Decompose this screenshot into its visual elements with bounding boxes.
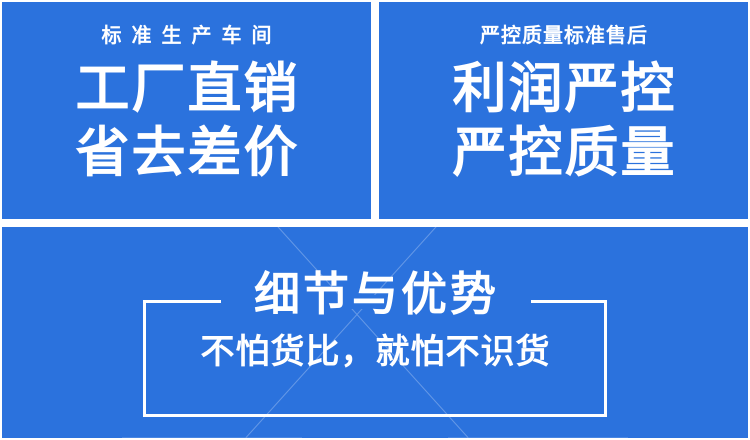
panel-quality-control-eyebrow: 严控质量标准售后 [479,26,648,46]
bottom-panel-subtitle: 不怕货比，就怕不识货 [2,335,748,369]
panel-quality-control: 严控质量标准售后 利润严控 严控质量 [379,2,748,219]
bottom-panel-title: 细节与优势 [2,271,748,317]
panel-factory-direct-eyebrow: 标准生产车间 [92,26,282,46]
top-panel-row: 标准生产车间 工厂直销 省去差价 严控质量标准售后 利润严控 严控质量 [2,2,748,219]
panel-factory-direct-headline-line2: 省去差价 [74,122,300,186]
panel-quality-control-headline-line2: 严控质量 [451,122,677,186]
panel-factory-direct-headline-line1: 工厂直销 [74,58,300,122]
panel-quality-control-headline-line1: 利润严控 [451,58,677,122]
promo-banner: 标准生产车间 工厂直销 省去差价 严控质量标准售后 利润严控 严控质量 细节与优… [0,0,750,440]
panel-details-advantages: 细节与优势 不怕货比，就怕不识货 [2,227,748,438]
panel-factory-direct: 标准生产车间 工厂直销 省去差价 [2,2,371,219]
